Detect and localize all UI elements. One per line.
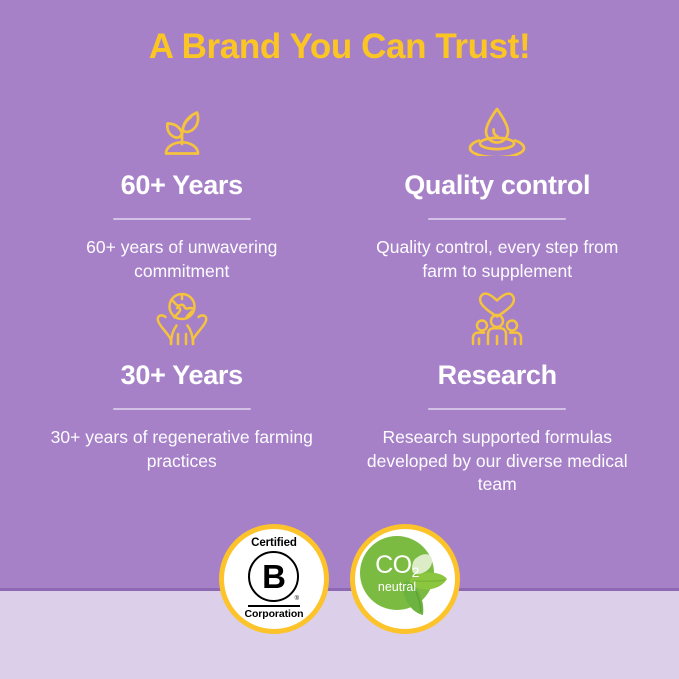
feature-card-years-30: 30+ Years 30+ years of regenerative farm… [24,290,340,496]
feature-row-top: 60+ Years 60+ years of unwavering commit… [24,100,655,290]
feature-divider [113,218,251,220]
co2-formula: CO [375,551,412,579]
feature-title: Quality control [348,171,648,199]
registered-trademark-mark: ® [295,596,299,602]
co2-sub-label: neutral [360,581,434,594]
feature-divider [113,408,251,410]
certification-badges: Certified B ® Corporation [0,524,679,634]
feature-title: Research [348,361,648,389]
bcorp-certified-badge: Certified B ® Corporation [219,524,329,634]
bcorp-letter-b-circle: B [248,551,299,602]
feature-divider [428,408,566,410]
hands-holding-globe-icon [32,290,332,346]
feature-title: 30+ Years [32,361,332,389]
feature-description: 60+ years of unwavering commitment [48,236,316,283]
bcorp-letter: B [262,560,286,593]
feature-card-quality-control: Quality control Quality control, every s… [340,100,656,290]
brand-trust-infographic: A Brand You Can Trust! 60+ Years 60+ yea… [0,0,679,679]
co2-subscript: 2 [412,564,419,580]
feature-description: 30+ years of regenerative farming practi… [48,426,316,473]
bcorp-top-label: Certified [245,538,304,550]
people-heart-icon [348,290,648,346]
feature-title: 60+ Years [32,171,332,199]
co2-neutral-logo: CO2 neutral [355,529,455,629]
co2-label-group: CO2 neutral [360,536,434,610]
water-droplet-icon [348,100,648,156]
bcorp-bottom-label: Corporation [245,609,304,620]
page-title: A Brand You Can Trust! [0,27,679,67]
feature-card-years-60: 60+ Years 60+ years of unwavering commit… [24,100,340,290]
co2-main-label: CO2 [360,553,434,578]
seedling-icon [32,100,332,156]
feature-grid: 60+ Years 60+ years of unwavering commit… [24,100,655,496]
feature-card-research: Research Research supported formulas dev… [340,290,656,496]
feature-description: Research supported formulas developed by… [357,426,637,496]
feature-divider [428,218,566,220]
co2-neutral-badge: CO2 neutral [350,524,460,634]
bcorp-rule [248,605,300,608]
feature-row-bottom: 30+ Years 30+ years of regenerative farm… [24,290,655,496]
bcorp-logo: Certified B ® Corporation [245,538,304,620]
feature-description: Quality control, every step from farm to… [357,236,637,283]
